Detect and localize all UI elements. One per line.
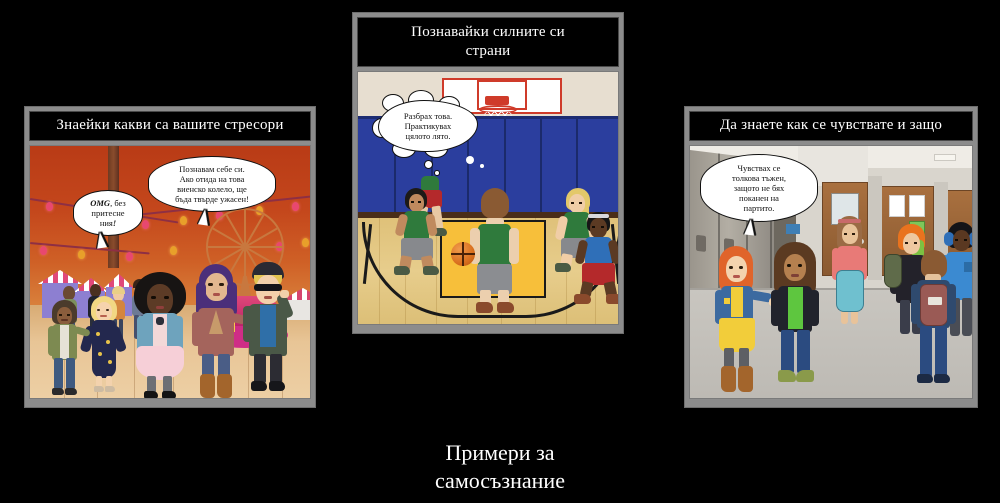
bubble-line-3: виенско колело, ще: [175, 184, 249, 194]
player-right-blue: [574, 212, 619, 306]
panel-1-scene: OMG, без притеснe ния! Познавам себе си.…: [29, 145, 311, 399]
storyboard-panel-3[interactable]: Да знаете как се чувствате и защо: [684, 106, 978, 408]
speech-bubble-self-aware: Познавам себе си. Ако отида на това виен…: [148, 156, 276, 212]
speech-bubble-sad: Чувствах се толкова тъжен, защото не бях…: [700, 154, 818, 222]
panel-3-title: Да знаете как се чувствате и защо: [689, 111, 973, 141]
thought-dot-1: [424, 160, 433, 169]
character-girl-pink-skirt: [131, 272, 189, 399]
speech-bubble-omg: OMG, без притеснe ния!: [73, 190, 143, 236]
panel-3-frame: Да знаете как се чувствате и защо: [684, 106, 978, 408]
panel-2-title-line1: Познавайки силните си: [411, 23, 565, 42]
sad-line-4: поканен на: [732, 193, 786, 203]
character-purple-hair-girl: [190, 264, 244, 399]
thought-line-2: Практикувах: [404, 121, 452, 131]
ceiling-light-2: [934, 154, 956, 161]
locker-sticker: [786, 224, 800, 234]
character-green-top-girl: [768, 242, 826, 396]
panel-2-title: Познавайки силните си страни: [357, 17, 619, 67]
sad-line-5: партито.: [732, 203, 786, 213]
caption-line-1: Примери за: [0, 439, 1000, 467]
sad-line-1: Чувствах се: [732, 163, 786, 173]
student-back-facing: [908, 250, 958, 386]
thought-line-3: цялото лято.: [404, 131, 452, 141]
player-left-green: [392, 188, 444, 276]
sad-line-2: толкова тъжен,: [732, 173, 786, 183]
panel-2-title-line2: страни: [466, 42, 511, 61]
storyboard-canvas: Знаейки какви са вашите стресори: [0, 0, 1000, 503]
sad-line-3: защото не бях: [732, 183, 786, 193]
panel-2-scene: Разбрах това. Практикувах цялото лято.: [357, 71, 619, 325]
thought-line-1: Разбрах това.: [404, 111, 452, 121]
bubble-line-4: бъда твърде ужасен!: [175, 194, 249, 204]
bubble-line-2: Ако отида на това: [175, 174, 249, 184]
panel-3-scene: Чувствах се толкова тъжен, защото не бях…: [689, 145, 973, 399]
hoop-bracket: [485, 96, 509, 105]
omg-text-bold: OMG: [90, 198, 110, 208]
panel-1-title: Знаейки какви са вашите стресори: [29, 111, 311, 141]
caption-line-2: самосъзнание: [0, 467, 1000, 495]
panel-1-frame: Знаейки какви са вашите стресори: [24, 106, 316, 408]
backpack-olive: [884, 254, 902, 288]
character-olive-jacket-man: [48, 300, 82, 396]
character-blonde-girl: [87, 296, 121, 392]
storyboard-panel-1[interactable]: Знаейки какви са вашите стресори: [24, 106, 316, 408]
backpack-maroon: [920, 284, 948, 326]
backpack-teal: [836, 270, 864, 312]
basketball: [451, 242, 475, 266]
thought-dot-2: [434, 170, 440, 176]
storyboard-caption: Примери за самосъзнание: [0, 439, 1000, 495]
bubble-line-1: Познавам себе си.: [175, 164, 249, 174]
character-beanie-boy: [242, 262, 296, 399]
storyboard-panel-2[interactable]: Познавайки силните си страни: [352, 12, 624, 334]
panel-2-frame: Познавайки силните си страни: [352, 12, 624, 334]
character-redhead-yellow-dress: [712, 246, 766, 396]
